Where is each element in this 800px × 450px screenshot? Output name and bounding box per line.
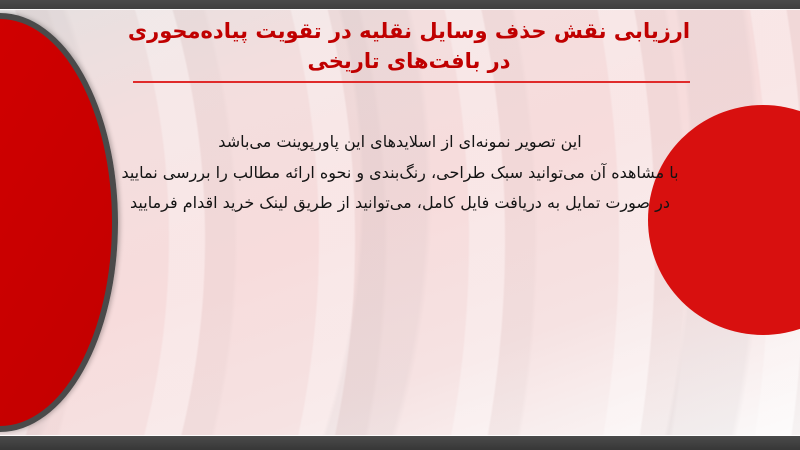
title-divider-rule — [133, 81, 690, 83]
slide-content-area: ارزیابی نقش حذف وسایل نقلیه در تقویت پیا… — [0, 9, 800, 436]
body-text-line-1: این تصویر نمونه‌ای از اسلایدهای این پاور… — [110, 127, 690, 158]
body-text-line-3: در صورت تمایل به دریافت فایل کامل، می‌تو… — [110, 188, 690, 219]
slide-title-line-1: ارزیابی نقش حذف وسایل نقلیه در تقویت پیا… — [118, 17, 700, 47]
left-red-lens-decoration — [0, 13, 118, 432]
slide-title-line-2: در بافت‌های تاریخی — [118, 47, 700, 77]
presentation-slide: ارزیابی نقش حذف وسایل نقلیه در تقویت پیا… — [0, 0, 800, 450]
slide-frame-top-border — [0, 0, 800, 9]
slide-frame-bottom-border — [0, 436, 800, 450]
slide-title: ارزیابی نقش حذف وسایل نقلیه در تقویت پیا… — [118, 17, 700, 77]
slide-body-text: این تصویر نمونه‌ای از اسلایدهای این پاور… — [110, 127, 690, 219]
body-text-line-2: با مشاهده آن می‌توانید سبک طراحی، رنگ‌بن… — [110, 158, 690, 189]
